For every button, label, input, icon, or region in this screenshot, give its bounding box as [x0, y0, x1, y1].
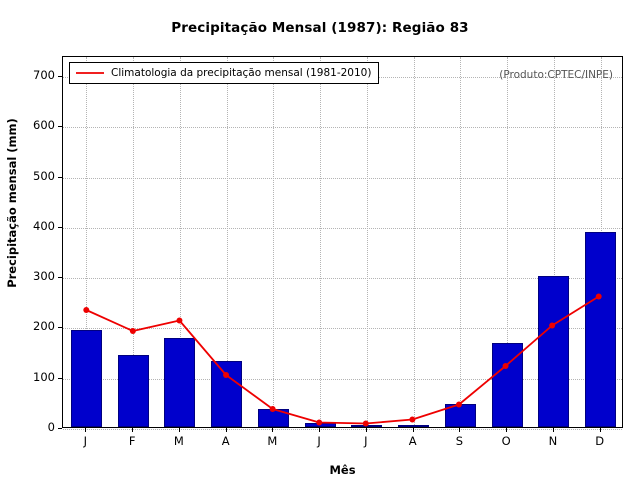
legend-line-swatch [75, 68, 105, 78]
x-tick-label: J [351, 434, 381, 448]
x-tick-mark [85, 428, 86, 432]
x-tick-label: D [585, 434, 615, 448]
y-tick-label: 600 [19, 118, 55, 132]
x-tick-label: A [398, 434, 428, 448]
gridline-horizontal [63, 429, 622, 430]
x-tick-mark [600, 428, 601, 432]
climatology-point-8 [456, 402, 462, 408]
x-tick-label: J [70, 434, 100, 448]
climatology-point-10 [549, 323, 555, 329]
x-tick-mark [272, 428, 273, 432]
y-tick-mark [58, 277, 62, 278]
climatology-point-5 [316, 420, 322, 426]
y-tick-label: 200 [19, 319, 55, 333]
x-tick-mark [553, 428, 554, 432]
x-tick-mark [319, 428, 320, 432]
climatology-line-series [63, 57, 622, 427]
climatology-point-2 [176, 318, 182, 324]
y-tick-mark [58, 126, 62, 127]
climatology-point-6 [363, 421, 369, 427]
y-tick-label: 500 [19, 169, 55, 183]
x-tick-mark [132, 428, 133, 432]
x-tick-label: M [164, 434, 194, 448]
x-tick-label: M [257, 434, 287, 448]
y-tick-label: 0 [19, 420, 55, 434]
chart-legend: Climatologia da precipitação mensal (198… [69, 62, 379, 84]
y-tick-label: 400 [19, 219, 55, 233]
y-tick-mark [58, 227, 62, 228]
climatology-point-4 [270, 406, 276, 412]
climatology-point-9 [503, 363, 509, 369]
chart-figure: Precipitação Mensal (1987): Região 83 Pr… [0, 0, 640, 500]
x-tick-label: J [304, 434, 334, 448]
x-tick-mark [226, 428, 227, 432]
y-tick-label: 300 [19, 269, 55, 283]
climatology-point-3 [223, 372, 229, 378]
y-tick-label: 700 [19, 68, 55, 82]
x-tick-mark [413, 428, 414, 432]
y-tick-mark [58, 428, 62, 429]
x-tick-label: F [117, 434, 147, 448]
source-annotation: (Produto:CPTEC/INPE) [499, 69, 613, 81]
x-tick-mark [459, 428, 460, 432]
x-tick-mark [179, 428, 180, 432]
x-tick-label: S [444, 434, 474, 448]
y-tick-mark [58, 327, 62, 328]
y-tick-mark [58, 76, 62, 77]
climatology-point-1 [130, 328, 136, 334]
plot-area: Climatologia da precipitação mensal (198… [62, 56, 623, 428]
legend-item-climatology: Climatologia da precipitação mensal (198… [111, 67, 371, 79]
x-axis-label: Mês [62, 463, 623, 477]
chart-title: Precipitação Mensal (1987): Região 83 [0, 20, 640, 36]
x-tick-label: N [538, 434, 568, 448]
climatology-point-7 [409, 417, 415, 423]
x-tick-label: O [491, 434, 521, 448]
x-tick-label: A [211, 434, 241, 448]
x-tick-mark [506, 428, 507, 432]
y-tick-mark [58, 177, 62, 178]
climatology-point-11 [596, 294, 602, 300]
y-axis-label: Precipitação mensal (mm) [5, 17, 19, 389]
x-tick-mark [366, 428, 367, 432]
y-tick-mark [58, 378, 62, 379]
y-tick-label: 100 [19, 370, 55, 384]
climatology-point-0 [83, 307, 89, 313]
